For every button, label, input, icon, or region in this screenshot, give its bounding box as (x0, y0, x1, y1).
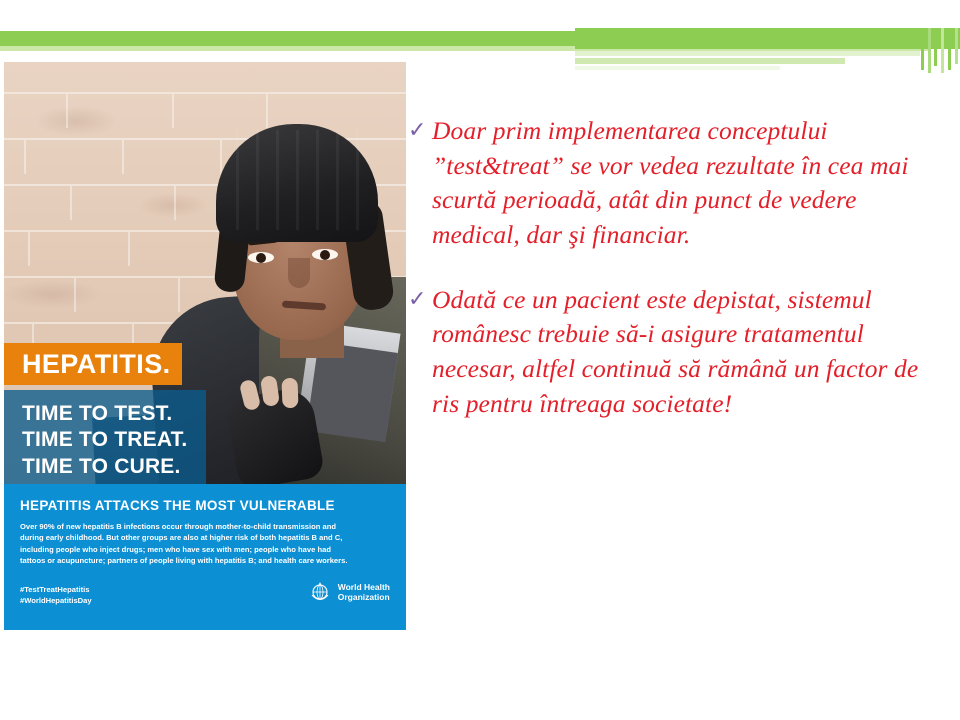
hepatitis-title-bar: HEPATITIS. (4, 343, 182, 385)
poster-info-panel: HEPATITIS ATTACKS THE MOST VULNERABLE Ov… (4, 484, 406, 630)
green-stripe-3 (934, 28, 937, 66)
green-band-right-3 (575, 58, 845, 64)
who-logo-text: World Health Organization (338, 583, 390, 603)
hepatitis-campaign-poster: HEPATITIS. TIME TO TEST. TIME TO TREAT. … (4, 62, 406, 630)
green-band-right-4 (575, 66, 780, 70)
hepatitis-title-text: HEPATITIS. (4, 349, 171, 380)
green-band-right-2 (575, 51, 920, 56)
who-logo-line2: Organization (338, 593, 390, 603)
poster-hashtags: #TestTreatHepatitis #WorldHepatitisDay (20, 584, 92, 607)
info-panel-title: HEPATITIS ATTACKS THE MOST VULNERABLE (20, 498, 390, 513)
green-band-right (575, 28, 960, 49)
green-stripe-2 (928, 28, 931, 73)
bullet-text-2: Odată ce un pacient este depistat, siste… (432, 283, 948, 422)
checkmark-icon: ✓ (408, 283, 432, 314)
hashtag-testtreathepatitis: #TestTreatHepatitis (20, 584, 92, 595)
checkmark-icon: ✓ (408, 114, 432, 145)
hashtag-worldhepatitisday: #WorldHepatitisDay (20, 595, 92, 606)
green-stripe-5 (948, 28, 951, 70)
bullet-item-2: ✓ Odată ce un pacient este depistat, sis… (408, 283, 948, 422)
green-stripe-6 (955, 28, 958, 64)
who-emblem-icon (307, 580, 333, 606)
info-panel-body: Over 90% of new hepatitis B infections o… (20, 521, 352, 567)
green-stripe-1 (921, 28, 924, 70)
green-stripe-4 (941, 28, 944, 73)
slide-body-text: ✓ Doar prim implementarea conceptului ”t… (408, 114, 948, 451)
who-logo: World Health Organization (307, 580, 390, 606)
presentation-slide: HEPATITIS. TIME TO TEST. TIME TO TREAT. … (0, 0, 960, 720)
tagline-treat: TIME TO TREAT. (22, 427, 206, 453)
bullet-text-1: Doar prim implementarea conceptului ”tes… (432, 114, 948, 253)
bullet-item-1: ✓ Doar prim implementarea conceptului ”t… (408, 114, 948, 253)
tagline-cure: TIME TO CURE. (22, 454, 206, 480)
tagline-test: TIME TO TEST. (22, 401, 206, 427)
